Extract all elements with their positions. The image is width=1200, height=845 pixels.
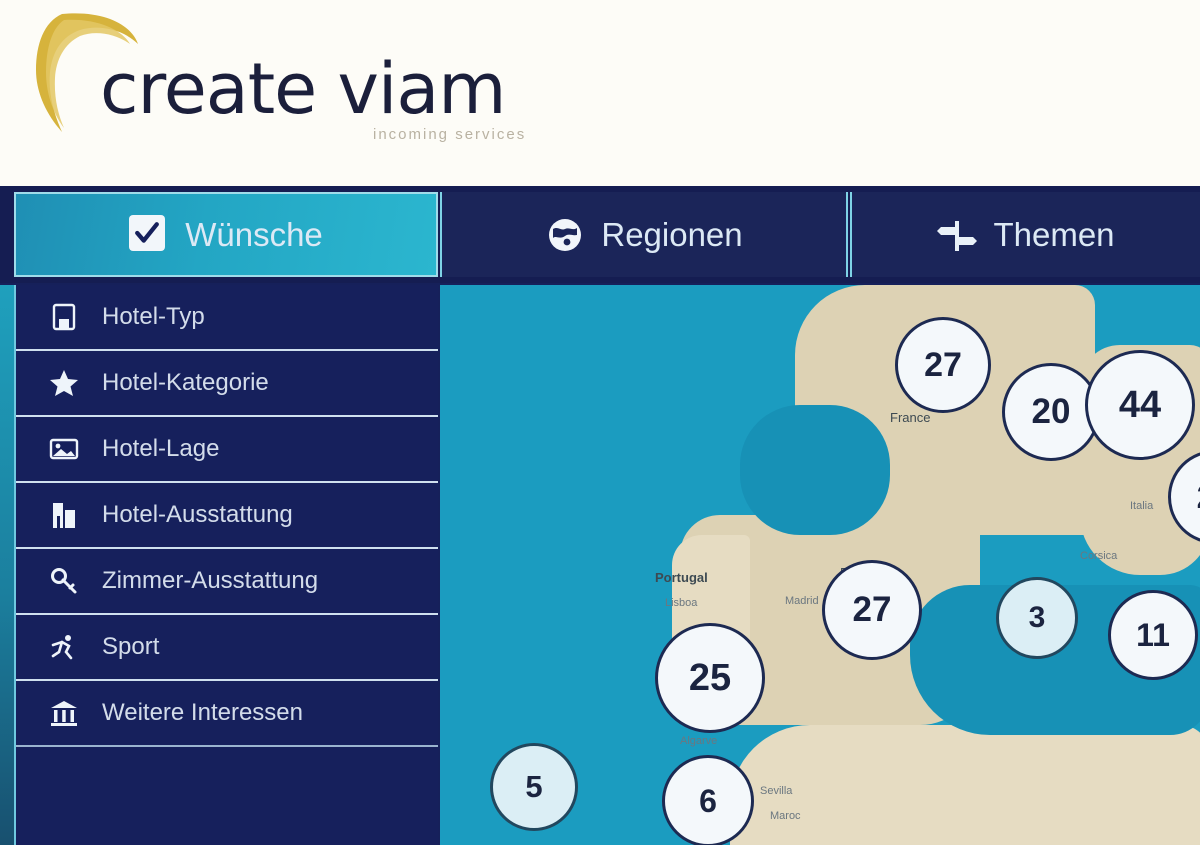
marker-value: 25 [689, 657, 731, 700]
bed-icon [42, 302, 86, 332]
map-marker[interactable]: 27 [895, 317, 991, 413]
marker-value: 20 [1032, 392, 1071, 432]
tab-regionen[interactable]: Regionen [440, 192, 848, 277]
building-icon [42, 500, 86, 530]
tab-themen[interactable]: Themen [850, 192, 1200, 277]
sidebar-item-label: Zimmer-Ausstattung [102, 567, 318, 595]
signpost-icon [937, 215, 977, 255]
sidebar-item-hotel-typ[interactable]: Hotel-Typ [16, 285, 438, 351]
map-marker[interactable]: 44 [1085, 350, 1195, 460]
map-label: Sevilla [760, 785, 792, 797]
landmass-africa [730, 725, 1200, 845]
sidebar-item-label: Hotel-Kategorie [102, 369, 269, 397]
globe-icon [545, 215, 585, 255]
marker-value: 6 [699, 783, 717, 820]
marker-value: 5 [525, 769, 542, 805]
sidebar-item-hotel-kategorie[interactable]: Hotel-Kategorie [16, 351, 438, 417]
sidebar-item-weitere-interessen[interactable]: Weitere Interessen [16, 681, 438, 747]
tab-wuensche[interactable]: Wünsche [14, 192, 438, 277]
landscape-icon [42, 434, 86, 464]
map-marker[interactable]: 3 [996, 577, 1078, 659]
map-label: Italia [1130, 500, 1153, 512]
marker-value: 3 [1029, 601, 1046, 635]
map-marker[interactable]: 27 [822, 560, 922, 660]
marker-value: 27 [1197, 478, 1200, 516]
sidebar-item-label: Hotel-Typ [102, 303, 205, 331]
sidebar-item-zimmer-ausstattung[interactable]: Zimmer-Ausstattung [16, 549, 438, 615]
marker-value: 27 [924, 346, 962, 385]
sidebar-item-label: Hotel-Ausstattung [102, 501, 293, 529]
brand-name: create viam [100, 54, 505, 124]
marker-value: 44 [1119, 384, 1161, 427]
header: create viam incoming services [0, 0, 1200, 187]
marker-value: 27 [853, 590, 892, 630]
sidebar-item-label: Hotel-Lage [102, 435, 219, 463]
map-canvas[interactable]: Portugal España France Corsica Italia Li… [440, 285, 1200, 845]
museum-icon [42, 698, 86, 728]
map-marker[interactable]: 5 [490, 743, 578, 831]
application-root: create viam incoming services Wünsche Re… [0, 0, 1200, 845]
map-marker[interactable]: 11 [1108, 590, 1198, 680]
checkbox-icon [129, 215, 169, 255]
key-icon [42, 566, 86, 596]
tab-bar: Wünsche Regionen Themen [0, 186, 1200, 283]
sidebar-item-label: Weitere Interessen [102, 699, 303, 727]
map-marker[interactable]: 25 [655, 623, 765, 733]
sidebar-item-sport[interactable]: Sport [16, 615, 438, 681]
brand-logo[interactable]: create viam incoming services [28, 8, 588, 158]
sidebar-item-hotel-ausstattung[interactable]: Hotel-Ausstattung [16, 483, 438, 549]
marker-value: 11 [1136, 617, 1170, 654]
map-label: Corsica [1080, 550, 1117, 562]
map-label: France [890, 410, 930, 425]
tab-label: Wünsche [185, 216, 323, 254]
map-label: Maroc [770, 810, 801, 822]
star-icon [42, 368, 86, 398]
sidebar: Hotel-Typ Hotel-Kategorie Hotel-Lage Hot… [14, 285, 438, 845]
map-marker[interactable]: 6 [662, 755, 754, 845]
sidebar-accent-strip [0, 285, 14, 845]
map-label: Algarve [680, 735, 717, 747]
sidebar-item-label: Sport [102, 633, 159, 661]
map-label: Lisboa [665, 597, 697, 609]
sport-icon [42, 632, 86, 662]
tab-label: Themen [993, 216, 1114, 254]
brand-tagline: incoming services [373, 126, 526, 143]
map-label: Portugal [655, 570, 708, 585]
sea-biscay [740, 405, 890, 535]
map-label: Madrid [785, 595, 819, 607]
tab-label: Regionen [601, 216, 742, 254]
sidebar-item-hotel-lage[interactable]: Hotel-Lage [16, 417, 438, 483]
